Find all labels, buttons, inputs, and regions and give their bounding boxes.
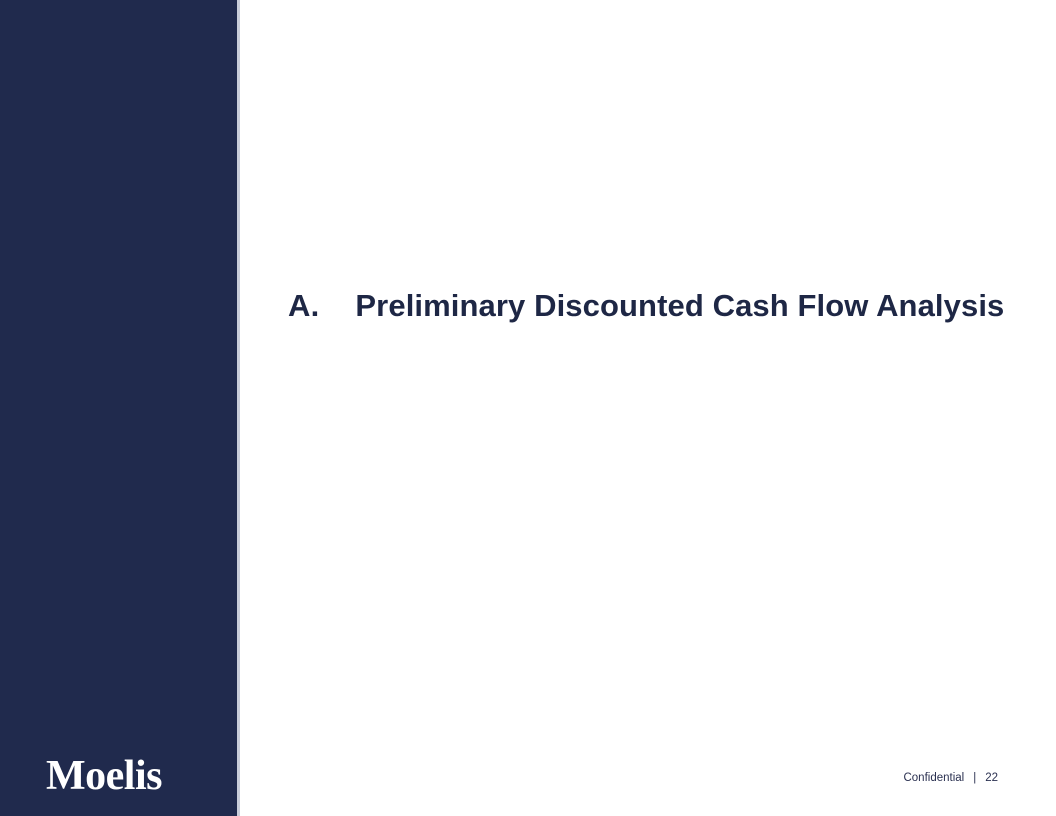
page-number: 22 [985,770,998,786]
section-letter: A. [288,286,319,326]
sidebar-edge-divider [237,0,240,816]
slide-canvas: Moelis A. Preliminary Discounted Cash Fl… [0,0,1056,816]
section-heading: Preliminary Discounted Cash Flow Analysi… [355,286,1004,326]
footer-separator: | [973,770,976,786]
confidentiality-label: Confidential [903,770,964,786]
slide-footer: Confidential | 22 [903,770,998,786]
moelis-logo: Moelis [46,752,206,800]
section-title-block: A. Preliminary Discounted Cash Flow Anal… [288,286,1004,326]
sidebar-navy-band [0,0,237,816]
